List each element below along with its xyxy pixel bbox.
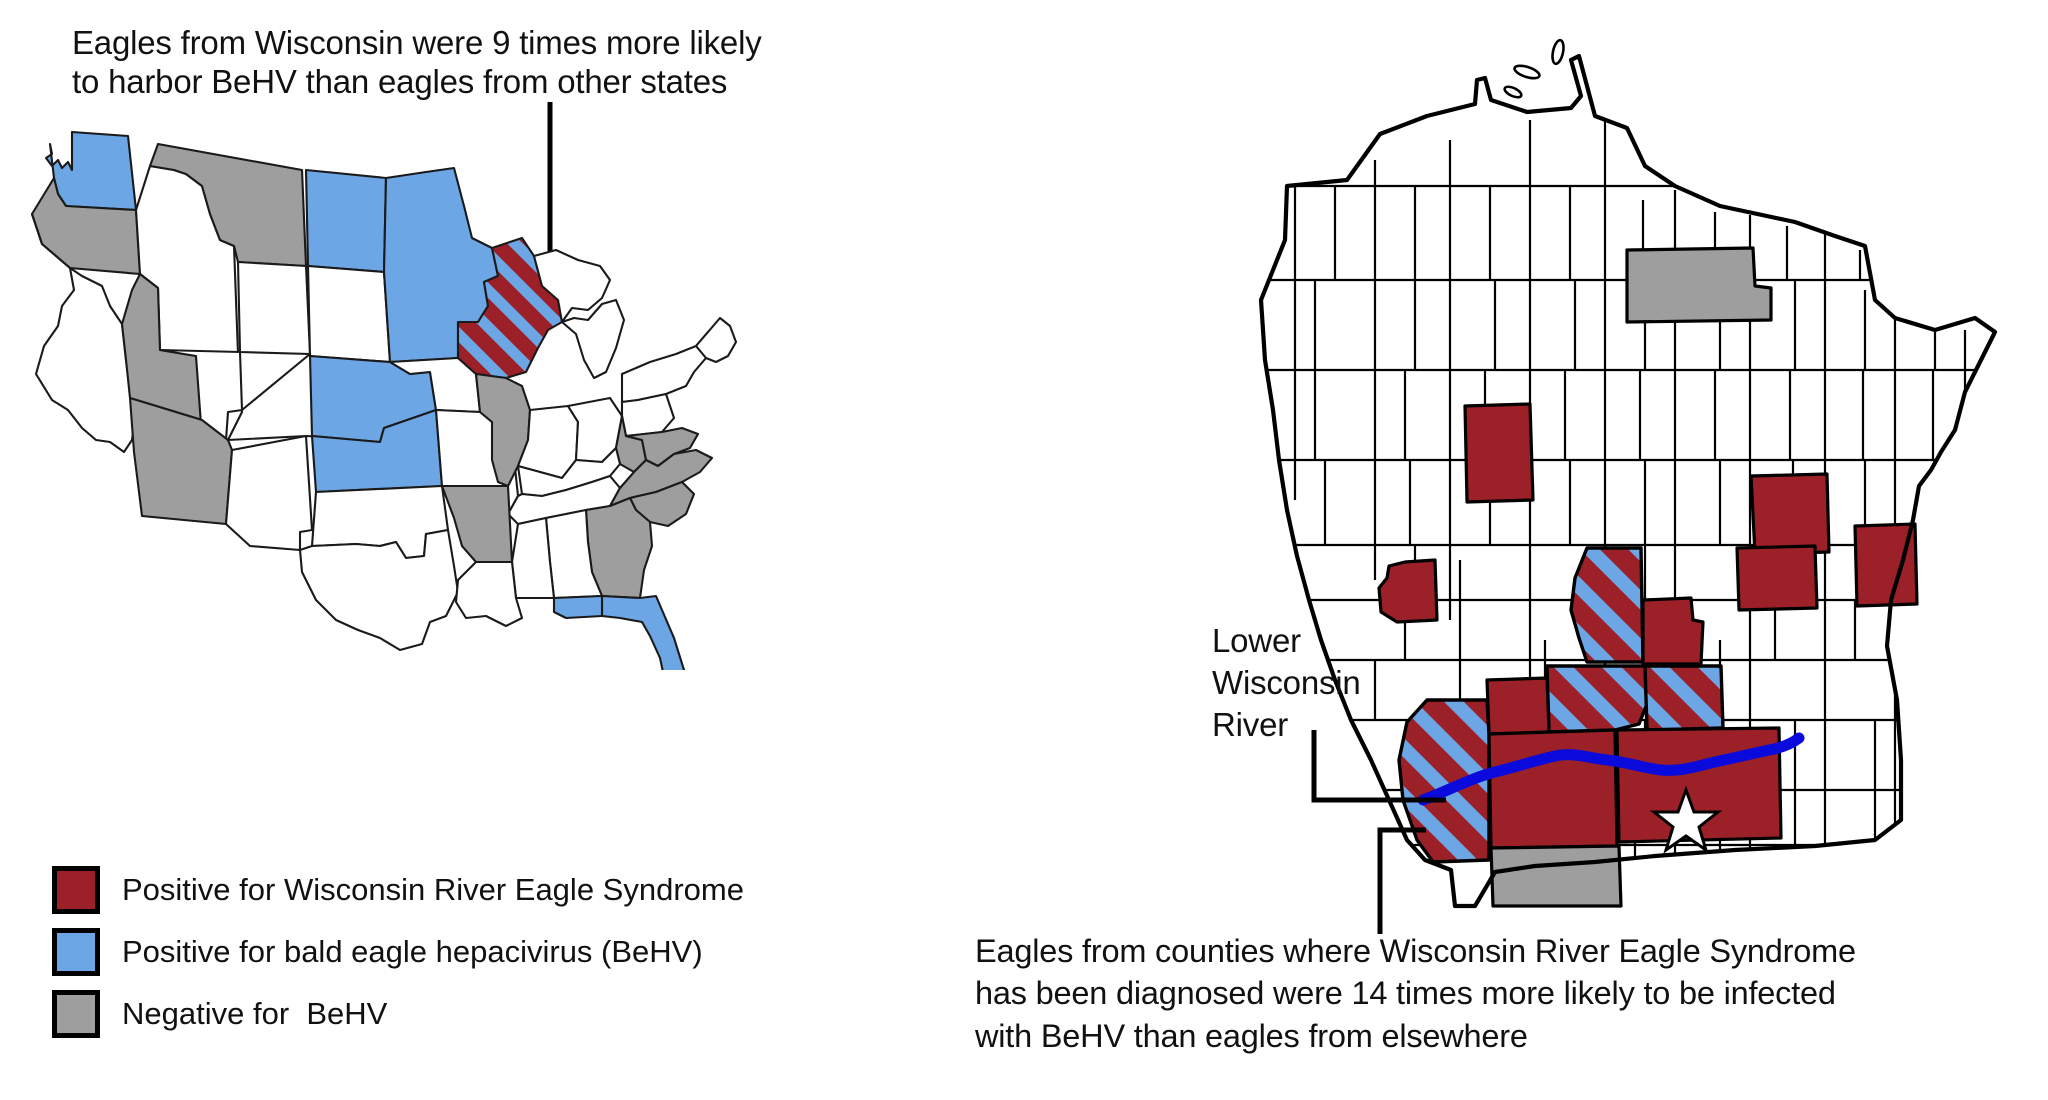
state-florida bbox=[602, 596, 684, 670]
legend-swatch-behv-negative bbox=[52, 990, 100, 1038]
figure-canvas: Eagles from Wisconsin were 9 times more … bbox=[0, 0, 2048, 1100]
state-south-dakota bbox=[308, 266, 390, 362]
bottom-annotation-caption: Eagles from counties where Wisconsin Riv… bbox=[975, 930, 2048, 1057]
state-mississippi bbox=[512, 518, 554, 598]
state-new-mexico bbox=[226, 436, 312, 550]
legend-label-wres-positive: Positive for Wisconsin River Eagle Syndr… bbox=[122, 872, 744, 908]
legend-item-behv-negative: Negative for BeHV bbox=[52, 986, 744, 1042]
county-adams-hatch bbox=[1571, 548, 1643, 662]
legend: Positive for Wisconsin River Eagle Syndr… bbox=[52, 862, 744, 1048]
county-shawano-positive bbox=[1751, 474, 1829, 554]
county-clark-positive bbox=[1465, 404, 1533, 502]
state-wyoming bbox=[238, 262, 310, 354]
county-sauk-hatch bbox=[1547, 666, 1647, 732]
top-annotation-caption: Eagles from Wisconsin were 9 times more … bbox=[72, 24, 772, 102]
legend-swatch-behv-positive bbox=[52, 928, 100, 976]
state-texas bbox=[300, 530, 458, 650]
bottom-annotation-leader bbox=[1300, 826, 1430, 936]
county-lincoln-negative bbox=[1627, 248, 1771, 322]
apostle-islands bbox=[1503, 39, 1565, 99]
state-florida-panhandle bbox=[554, 596, 602, 618]
state-north-dakota bbox=[306, 170, 386, 272]
county-buffalo-positive bbox=[1379, 560, 1437, 622]
state-arkansas bbox=[442, 486, 512, 562]
county-iowa-positive bbox=[1489, 730, 1617, 848]
wisconsin-county-map bbox=[1175, 0, 2048, 910]
state-pennsylvania bbox=[622, 394, 674, 436]
legend-label-behv-positive: Positive for bald eagle hepacivirus (BeH… bbox=[122, 934, 703, 970]
united-states-map bbox=[6, 110, 906, 670]
legend-item-wres-positive: Positive for Wisconsin River Eagle Syndr… bbox=[52, 862, 744, 918]
legend-label-behv-negative: Negative for BeHV bbox=[122, 996, 387, 1032]
county-richland-positive bbox=[1487, 678, 1549, 734]
county-grant-negative bbox=[1491, 846, 1621, 906]
river-label-bracket-leader bbox=[1310, 728, 1450, 808]
legend-swatch-wres-positive bbox=[52, 866, 100, 914]
county-columbia-hatch bbox=[1645, 666, 1723, 730]
county-outagamie-positive bbox=[1737, 546, 1817, 610]
legend-item-behv-positive: Positive for bald eagle hepacivirus (BeH… bbox=[52, 924, 744, 980]
state-louisiana bbox=[456, 562, 522, 626]
